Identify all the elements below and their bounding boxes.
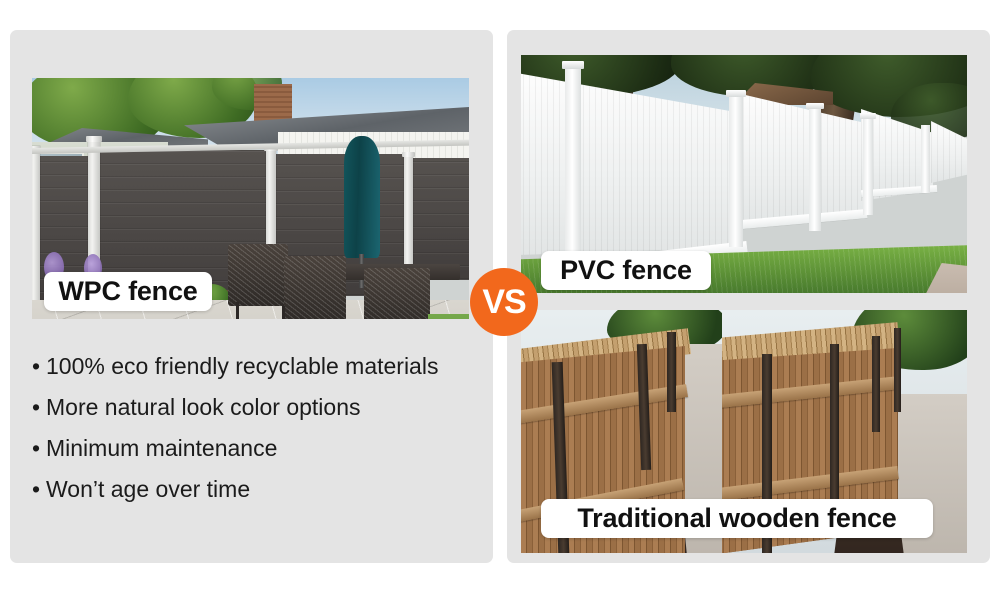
patio-chair: [364, 268, 430, 319]
list-item: •Minimum maintenance: [32, 430, 472, 466]
pvc-post: [921, 125, 930, 193]
feature-text: 100% eco friendly recyclable materials: [46, 353, 438, 379]
fence-post-cap: [86, 136, 102, 142]
patio-chair: [284, 256, 346, 319]
list-item: •100% eco friendly recyclable materials: [32, 348, 472, 384]
feature-text: Minimum maintenance: [46, 435, 277, 461]
feature-text: More natural look color options: [46, 394, 361, 420]
patio-umbrella: [344, 136, 380, 258]
fence-post-cap: [402, 152, 415, 157]
feature-text: Won’t age over time: [46, 476, 250, 502]
pvc-post-cap: [726, 90, 746, 97]
bullet-icon: •: [32, 430, 46, 466]
wpc-feature-list: •100% eco friendly recyclable materials …: [32, 348, 472, 512]
list-item: •More natural look color options: [32, 389, 472, 425]
bullet-icon: •: [32, 471, 46, 507]
fence-post: [32, 146, 40, 312]
lawn-strip: [428, 314, 469, 319]
chair-leg: [300, 318, 303, 319]
pvc-fence-label: PVC fence: [541, 251, 711, 290]
chair-leg: [282, 306, 285, 319]
pvc-post: [565, 67, 581, 251]
pvc-post-cap: [806, 103, 824, 109]
pvc-post: [809, 107, 821, 231]
pvc-post: [863, 117, 873, 215]
comparison-panel: PVC fence: [507, 30, 990, 563]
pvc-post-cap: [860, 113, 876, 119]
list-item: •Won’t age over time: [32, 471, 472, 507]
wpc-fence-panel: [412, 158, 469, 280]
vs-badge: VS: [470, 268, 538, 336]
pvc-post-cap: [562, 61, 584, 69]
bullet-icon: •: [32, 348, 46, 384]
wooden-fence-label: Traditional wooden fence: [541, 499, 933, 538]
patio-chair: [228, 244, 288, 306]
bullet-icon: •: [32, 389, 46, 425]
fence-post: [667, 332, 676, 412]
fence-post: [872, 336, 880, 432]
pvc-post: [729, 95, 743, 247]
chair-leg: [236, 302, 239, 319]
fence-post: [830, 344, 839, 522]
wpc-panel: WPC fence •100% eco friendly recyclable …: [10, 30, 493, 563]
fence-post: [894, 328, 901, 412]
wpc-fence-label: WPC fence: [44, 272, 212, 311]
